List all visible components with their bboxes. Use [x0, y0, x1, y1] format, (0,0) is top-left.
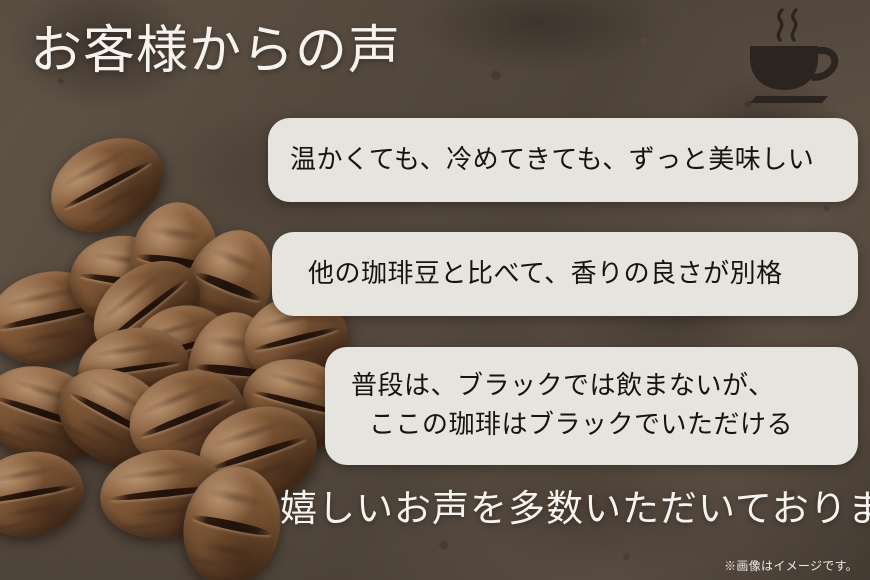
testimonial-line-1: 普段は、ブラックでは飲まないが、: [351, 367, 793, 406]
testimonial-banner: お客様からの声 温かくても、冷めてきても、ずっと美味しい 他の珈琲豆と比べて、香…: [0, 0, 870, 580]
testimonial-bubble-1: 温かくても、冷めてきても、ずっと美味しい: [268, 118, 858, 202]
closing-headline: 嬉しいお声を多数いただいております。: [280, 487, 870, 531]
testimonial-text: 温かくても、冷めてきても、ずっと美味しい: [290, 142, 814, 179]
coffee-bean: [0, 443, 90, 545]
page-title: お客様からの声: [30, 22, 401, 82]
coffee-cup-icon: [736, 8, 846, 108]
image-disclaimer: ※画像はイメージです。: [724, 557, 858, 574]
testimonial-line-2: ここの珈琲はブラックでいただける: [351, 406, 793, 445]
testimonial-text: 他の珈琲豆と比べて、香りの良さが別格: [308, 256, 783, 293]
testimonial-bubble-2: 他の珈琲豆と比べて、香りの良さが別格: [272, 232, 858, 316]
testimonial-bubble-3: 普段は、ブラックでは飲まないが、 ここの珈琲はブラックでいただける: [325, 347, 858, 465]
testimonial-text: 普段は、ブラックでは飲まないが、 ここの珈琲はブラックでいただける: [351, 367, 793, 445]
